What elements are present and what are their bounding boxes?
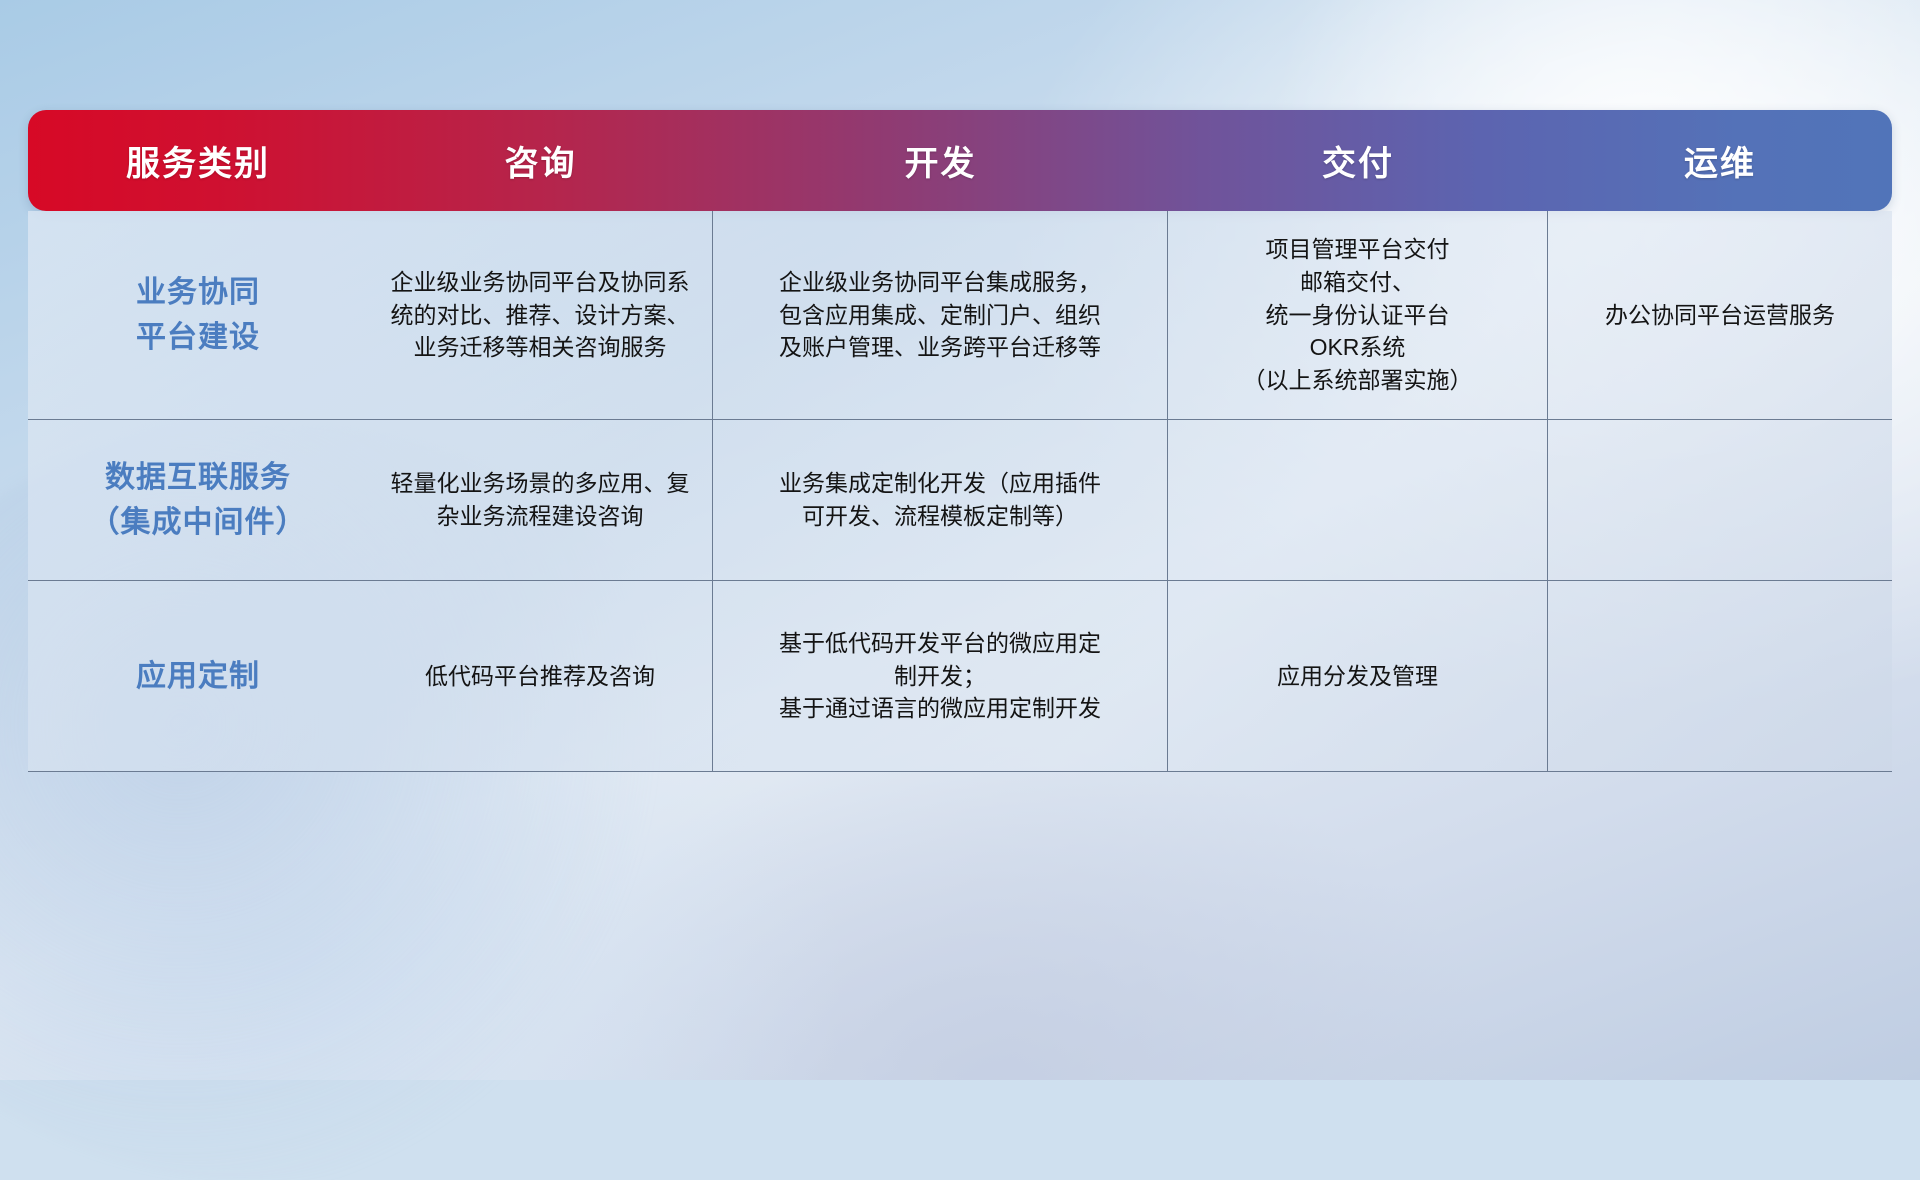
cell-operations-row-0: 办公协同平台运营服务 [1548,211,1892,419]
table-body: 业务协同 平台建设 企业级业务协同平台及协同系 统的对比、推荐、设计方案、 业务… [28,211,1892,772]
cell-consulting-row-0: 企业级业务协同平台及协同系 统的对比、推荐、设计方案、 业务迁移等相关咨询服务 [368,211,713,419]
column-header-development: 开发 [713,136,1168,185]
column-header-delivery: 交付 [1168,136,1548,185]
row-label-data-integration: 数据互联服务 （集成中间件） [28,420,368,580]
row-label-app-customization: 应用定制 [28,581,368,771]
cell-consulting-row-1: 轻量化业务场景的多应用、复 杂业务流程建设咨询 [368,420,713,580]
cell-operations-row-2 [1548,581,1892,771]
column-header-category: 服务类别 [28,136,368,185]
table-row: 数据互联服务 （集成中间件） 轻量化业务场景的多应用、复 杂业务流程建设咨询 业… [28,420,1892,581]
service-category-table: 服务类别 咨询 开发 交付 运维 业务协同 平台建设 企业级业务协同平台及协同系… [28,110,1892,770]
cell-delivery-row-2: 应用分发及管理 [1168,581,1548,771]
cell-operations-row-1 [1548,420,1892,580]
cell-development-row-1: 业务集成定制化开发（应用插件 可开发、流程模板定制等） [713,420,1168,580]
table-row: 业务协同 平台建设 企业级业务协同平台及协同系 统的对比、推荐、设计方案、 业务… [28,211,1892,420]
cell-consulting-row-2: 低代码平台推荐及咨询 [368,581,713,771]
cell-development-row-2: 基于低代码开发平台的微应用定 制开发； 基于通过语言的微应用定制开发 [713,581,1168,771]
cell-delivery-row-0: 项目管理平台交付 邮箱交付、 统一身份认证平台 OKR系统 （以上系统部署实施） [1168,211,1548,419]
column-header-operations: 运维 [1548,136,1892,185]
table-row: 应用定制 低代码平台推荐及咨询 基于低代码开发平台的微应用定 制开发； 基于通过… [28,581,1892,772]
row-label-business-collaboration: 业务协同 平台建设 [28,211,368,419]
column-header-consulting: 咨询 [368,136,713,185]
cell-delivery-row-1 [1168,420,1548,580]
cell-development-row-0: 企业级业务协同平台集成服务， 包含应用集成、定制门户、组织 及账户管理、业务跨平… [713,211,1168,419]
table-header-row: 服务类别 咨询 开发 交付 运维 [28,110,1892,211]
